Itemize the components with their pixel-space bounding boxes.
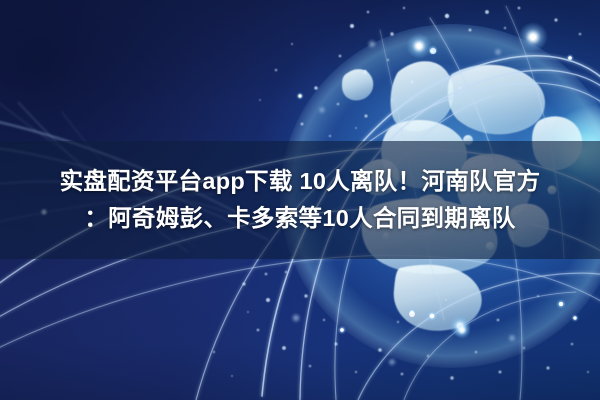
banner-image: 实盘配资平台app下载 10人离队！河南队官方 ：阿奇姆彭、卡多索等10人合同到… [0,0,600,400]
headline-line-2: ：阿奇姆彭、卡多索等10人合同到期离队 [84,200,515,237]
headline-line-1: 实盘配资平台app下载 10人离队！河南队官方 [60,163,541,200]
banner-headline: 实盘配资平台app下载 10人离队！河南队官方 ：阿奇姆彭、卡多索等10人合同到… [0,141,600,259]
